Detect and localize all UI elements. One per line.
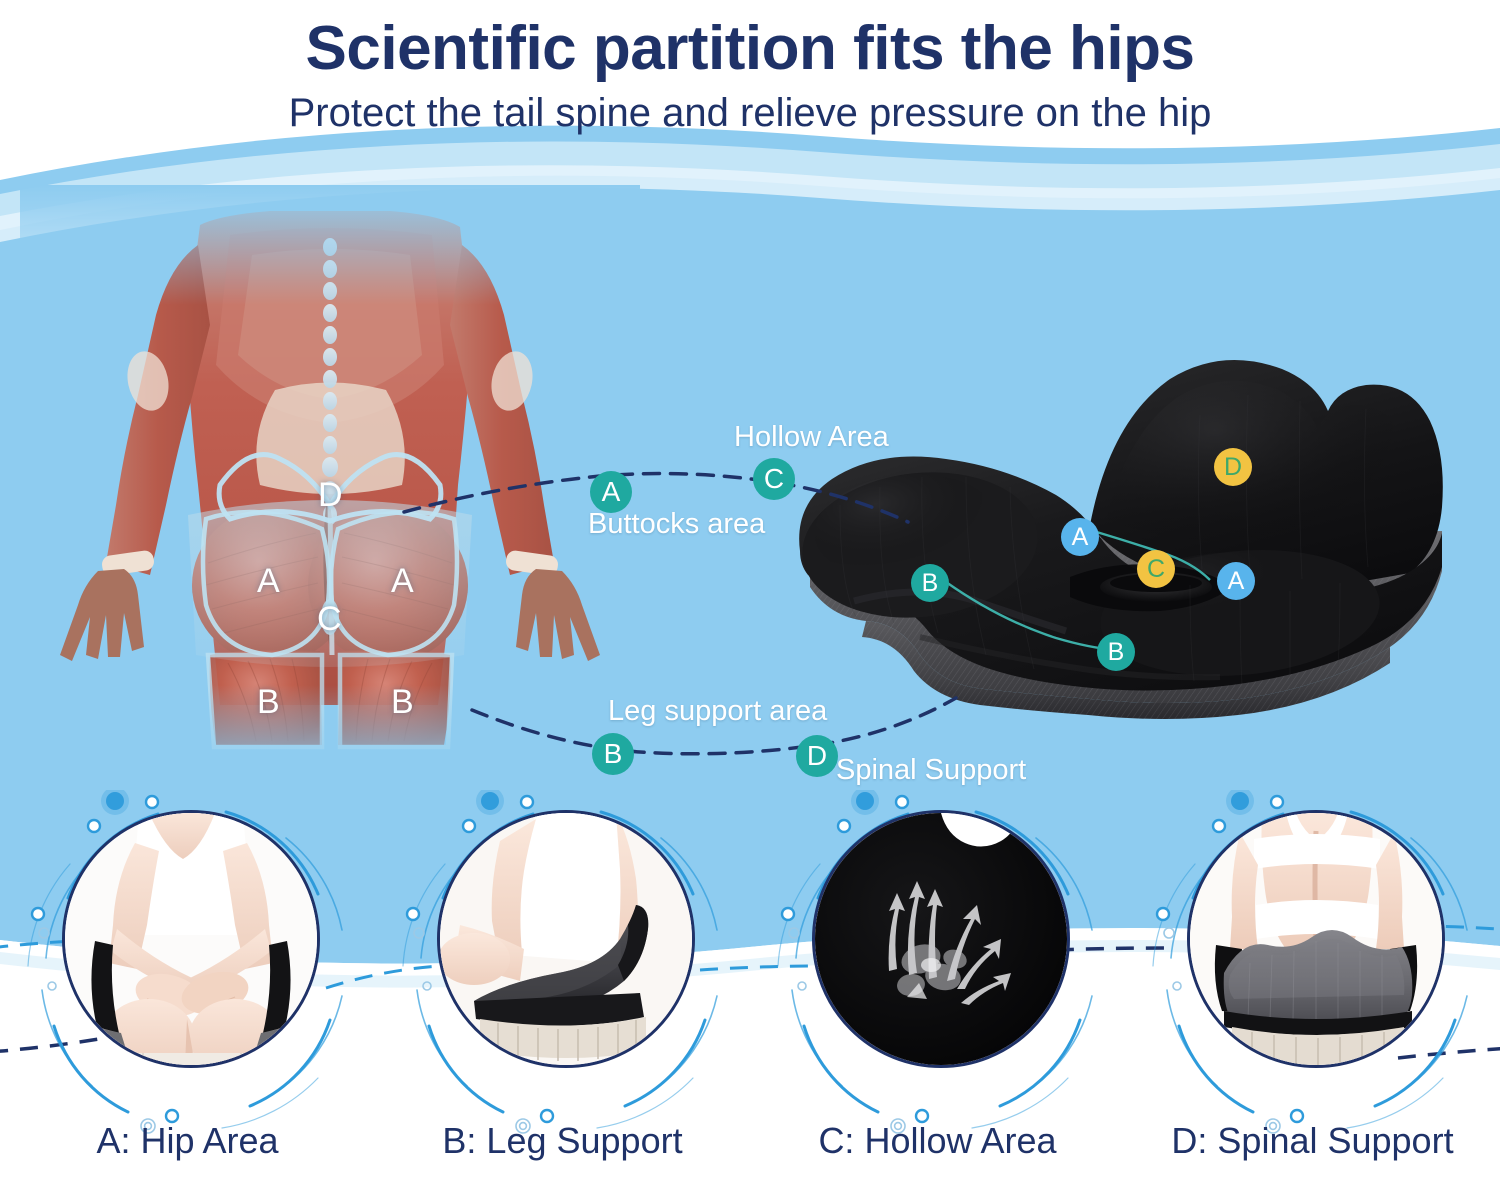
feature-photo-hip-area (62, 810, 320, 1068)
infographic-stage: Scientific partition fits the hips Prote… (0, 0, 1500, 1200)
anatomy-letter-a-left: A (257, 562, 280, 601)
feature-photo-hollow-area (812, 810, 1070, 1068)
feature-card-spinal-support[interactable]: D: Spinal Support (1125, 790, 1500, 1200)
feature-caption-leg-support: B: Leg Support (375, 1120, 750, 1162)
anatomy-letter-b-right: B (391, 683, 414, 722)
feature-photo-spinal-support (1187, 810, 1445, 1068)
feature-caption-hollow-area: C: Hollow Area (750, 1120, 1125, 1162)
header: Scientific partition fits the hips Prote… (0, 0, 1500, 135)
page-subtitle: Protect the tail spine and relieve press… (0, 81, 1500, 135)
feature-card-leg-support[interactable]: B: Leg Support (375, 790, 750, 1200)
anatomy-illustration: D A A C B B (20, 185, 640, 785)
page-title: Scientific partition fits the hips (0, 0, 1500, 81)
feature-card-hollow-area[interactable]: C: Hollow Area (750, 790, 1125, 1200)
feature-card-hip-area[interactable]: A: Hip Area (0, 790, 375, 1200)
anatomy-letter-d: D (318, 476, 343, 515)
feature-caption-hip-area: A: Hip Area (0, 1120, 375, 1162)
feature-photo-leg-support (437, 810, 695, 1068)
anatomy-letter-b-left: B (257, 683, 280, 722)
anatomy-letter-a-right: A (391, 562, 414, 601)
feature-caption-spinal-support: D: Spinal Support (1125, 1120, 1500, 1162)
anatomy-letter-c: C (317, 600, 342, 639)
feature-row: A: Hip Area (0, 790, 1500, 1200)
cushion-product-image (770, 355, 1470, 755)
